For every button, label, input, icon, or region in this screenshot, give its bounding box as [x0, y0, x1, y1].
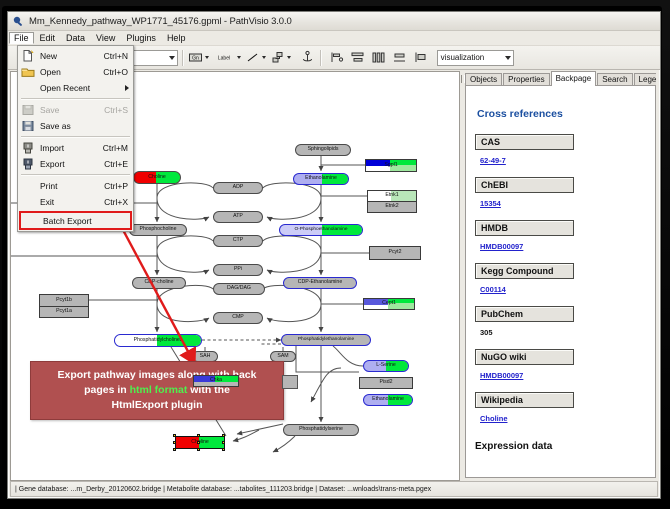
title-bar: Mm_Kennedy_pathway_WP1771_45176.gpml - P… — [8, 12, 660, 31]
menu-item-save: Save Ctrl+S — [18, 102, 133, 118]
menu-item-batch-export[interactable]: Batch Export — [19, 211, 132, 230]
datanode-icon[interactable]: Gn — [188, 50, 203, 65]
menu-item-import-accel: Ctrl+M — [103, 143, 128, 153]
file-menu-dropdown: New Ctrl+N Open Ctrl+O Open Recent — [17, 45, 134, 232]
menu-item-open-recent[interactable]: Open Recent — [18, 80, 133, 96]
menu-plugins[interactable]: Plugins — [121, 32, 161, 44]
chevron-down-icon[interactable] — [262, 56, 266, 59]
menu-item-exit-accel: Ctrl+X — [104, 197, 128, 207]
tab-backpage[interactable]: Backpage — [551, 71, 597, 86]
chevron-down-icon[interactable] — [287, 56, 291, 59]
window-title: Mm_Kennedy_pathway_WP1771_45176.gpml - P… — [29, 16, 292, 27]
same-width-icon[interactable] — [392, 50, 407, 65]
menu-item-new-label: New — [40, 51, 57, 61]
export-icon — [20, 157, 36, 171]
anchor-icon[interactable] — [300, 50, 315, 65]
menu-item-export-accel: Ctrl+E — [104, 159, 128, 169]
menu-item-exit[interactable]: Exit Ctrl+X — [18, 194, 133, 210]
xref-value-hmdb[interactable]: HMDB00097 — [480, 242, 523, 251]
menu-bar: File Edit Data View Plugins Help — [8, 31, 660, 46]
menu-item-import[interactable]: Import Ctrl+M — [18, 140, 133, 156]
menu-help[interactable]: Help — [162, 32, 191, 44]
callout-line-3: HtmlExport plugin — [112, 398, 203, 413]
align-left-icon[interactable] — [329, 50, 344, 65]
backpage-content: Cross references CAS 62-49-7 ChEBI 15354… — [466, 86, 655, 477]
blank-icon — [20, 81, 36, 95]
open-folder-icon — [20, 65, 36, 79]
menu-item-print-label: Print — [40, 181, 57, 191]
distribute-icon[interactable] — [371, 50, 386, 65]
menu-item-print[interactable]: Print Ctrl+P — [18, 178, 133, 194]
menu-file[interactable]: File — [9, 32, 34, 44]
xref-value-pubchem: 305 — [480, 328, 493, 337]
menu-item-export-label: Export — [40, 159, 65, 169]
submenu-arrow-icon — [125, 85, 129, 91]
pathway-anchor-block[interactable] — [282, 375, 298, 389]
cross-references-heading: Cross references — [477, 108, 655, 120]
node-chka[interactable]: Chka — [193, 375, 239, 387]
xref-value-wikipedia[interactable]: Choline — [480, 414, 508, 423]
menu-item-save-label: Save — [40, 105, 59, 115]
save-as-disk-icon — [20, 119, 36, 133]
menu-separator — [21, 98, 130, 100]
menu-item-new[interactable]: New Ctrl+N — [18, 48, 133, 64]
desktop-background: Mm_Kennedy_pathway_WP1771_45176.gpml - P… — [0, 0, 670, 509]
menu-item-save-as[interactable]: Save as — [18, 118, 133, 134]
chevron-down-icon — [169, 56, 175, 60]
toolbar-separator — [320, 50, 321, 66]
blank-icon — [20, 179, 36, 193]
svg-text:Label: Label — [218, 56, 230, 62]
side-panel: Objects Properties Backpage Search Legen… — [460, 71, 656, 479]
shape-icon[interactable] — [270, 50, 285, 65]
xref-value-kegg-compound[interactable]: C00114 — [480, 285, 506, 294]
import-icon — [20, 141, 36, 155]
pathvisio-application-window: Mm_Kennedy_pathway_WP1771_45176.gpml - P… — [7, 11, 661, 499]
visualization-combo[interactable]: visualization — [437, 50, 514, 66]
visualization-value: visualization — [441, 53, 485, 62]
new-document-icon — [20, 49, 36, 63]
menu-item-open-label: Open — [40, 67, 61, 77]
line-icon[interactable] — [245, 50, 260, 65]
menu-item-open[interactable]: Open Ctrl+O — [18, 64, 133, 80]
menu-item-exit-label: Exit — [40, 197, 54, 207]
menu-data[interactable]: Data — [61, 32, 90, 44]
menu-item-import-label: Import — [40, 143, 64, 153]
menu-item-export[interactable]: Export Ctrl+E — [18, 156, 133, 172]
xref-value-nugo-wiki[interactable]: HMDB00097 — [480, 371, 523, 380]
xref-header-kegg-compound: Kegg Compound — [475, 263, 574, 279]
align-center-icon[interactable] — [350, 50, 365, 65]
status-bar: | Gene database: ...m_Derby_20120602.bri… — [10, 481, 658, 497]
blank-icon — [23, 214, 39, 228]
callout-html-format: html format — [130, 384, 188, 396]
bring-front-icon[interactable] — [413, 50, 428, 65]
pathvisio-app-icon — [12, 15, 25, 28]
toolbar-separator — [182, 50, 183, 66]
save-disk-icon — [20, 103, 36, 117]
menu-item-open-accel: Ctrl+O — [103, 67, 128, 77]
xref-header-hmdb: HMDB — [475, 220, 574, 236]
chevron-down-icon — [505, 56, 511, 60]
menu-item-open-recent-label: Open Recent — [40, 83, 90, 93]
xref-value-chebi[interactable]: 15354 — [480, 199, 501, 208]
menu-item-save-accel: Ctrl+S — [104, 105, 128, 115]
menu-item-new-accel: Ctrl+N — [104, 51, 128, 61]
callout-line2-prefix: pages in — [84, 384, 130, 396]
menu-item-print-accel: Ctrl+P — [104, 181, 128, 191]
xref-header-nugo-wiki: NuGO wiki — [475, 349, 574, 365]
menu-item-save-as-label: Save as — [40, 121, 71, 131]
xref-header-wikipedia: Wikipedia — [475, 392, 574, 408]
annotation-callout: Export pathway images along with back pa… — [30, 361, 284, 420]
status-bar-text: | Gene database: ...m_Derby_20120602.bri… — [15, 486, 431, 493]
blank-icon — [20, 195, 36, 209]
menu-edit[interactable]: Edit — [35, 32, 61, 44]
label-icon[interactable]: Label — [213, 50, 235, 65]
xref-header-pubchem: PubChem — [475, 306, 574, 322]
menu-view[interactable]: View — [91, 32, 120, 44]
menu-item-batch-export-label: Batch Export — [43, 216, 92, 226]
xref-header-cas: CAS — [475, 134, 574, 150]
svg-text:Gn: Gn — [192, 55, 199, 61]
backpage-panel: Cross references CAS 62-49-7 ChEBI 15354… — [465, 85, 656, 478]
chevron-down-icon[interactable] — [237, 56, 241, 59]
xref-header-chebi: ChEBI — [475, 177, 574, 193]
chevron-down-icon[interactable] — [205, 56, 209, 59]
menu-separator — [21, 136, 130, 138]
expression-data-heading: Expression data — [475, 441, 655, 452]
menu-separator — [21, 174, 130, 176]
xref-value-cas[interactable]: 62-49-7 — [480, 156, 506, 165]
